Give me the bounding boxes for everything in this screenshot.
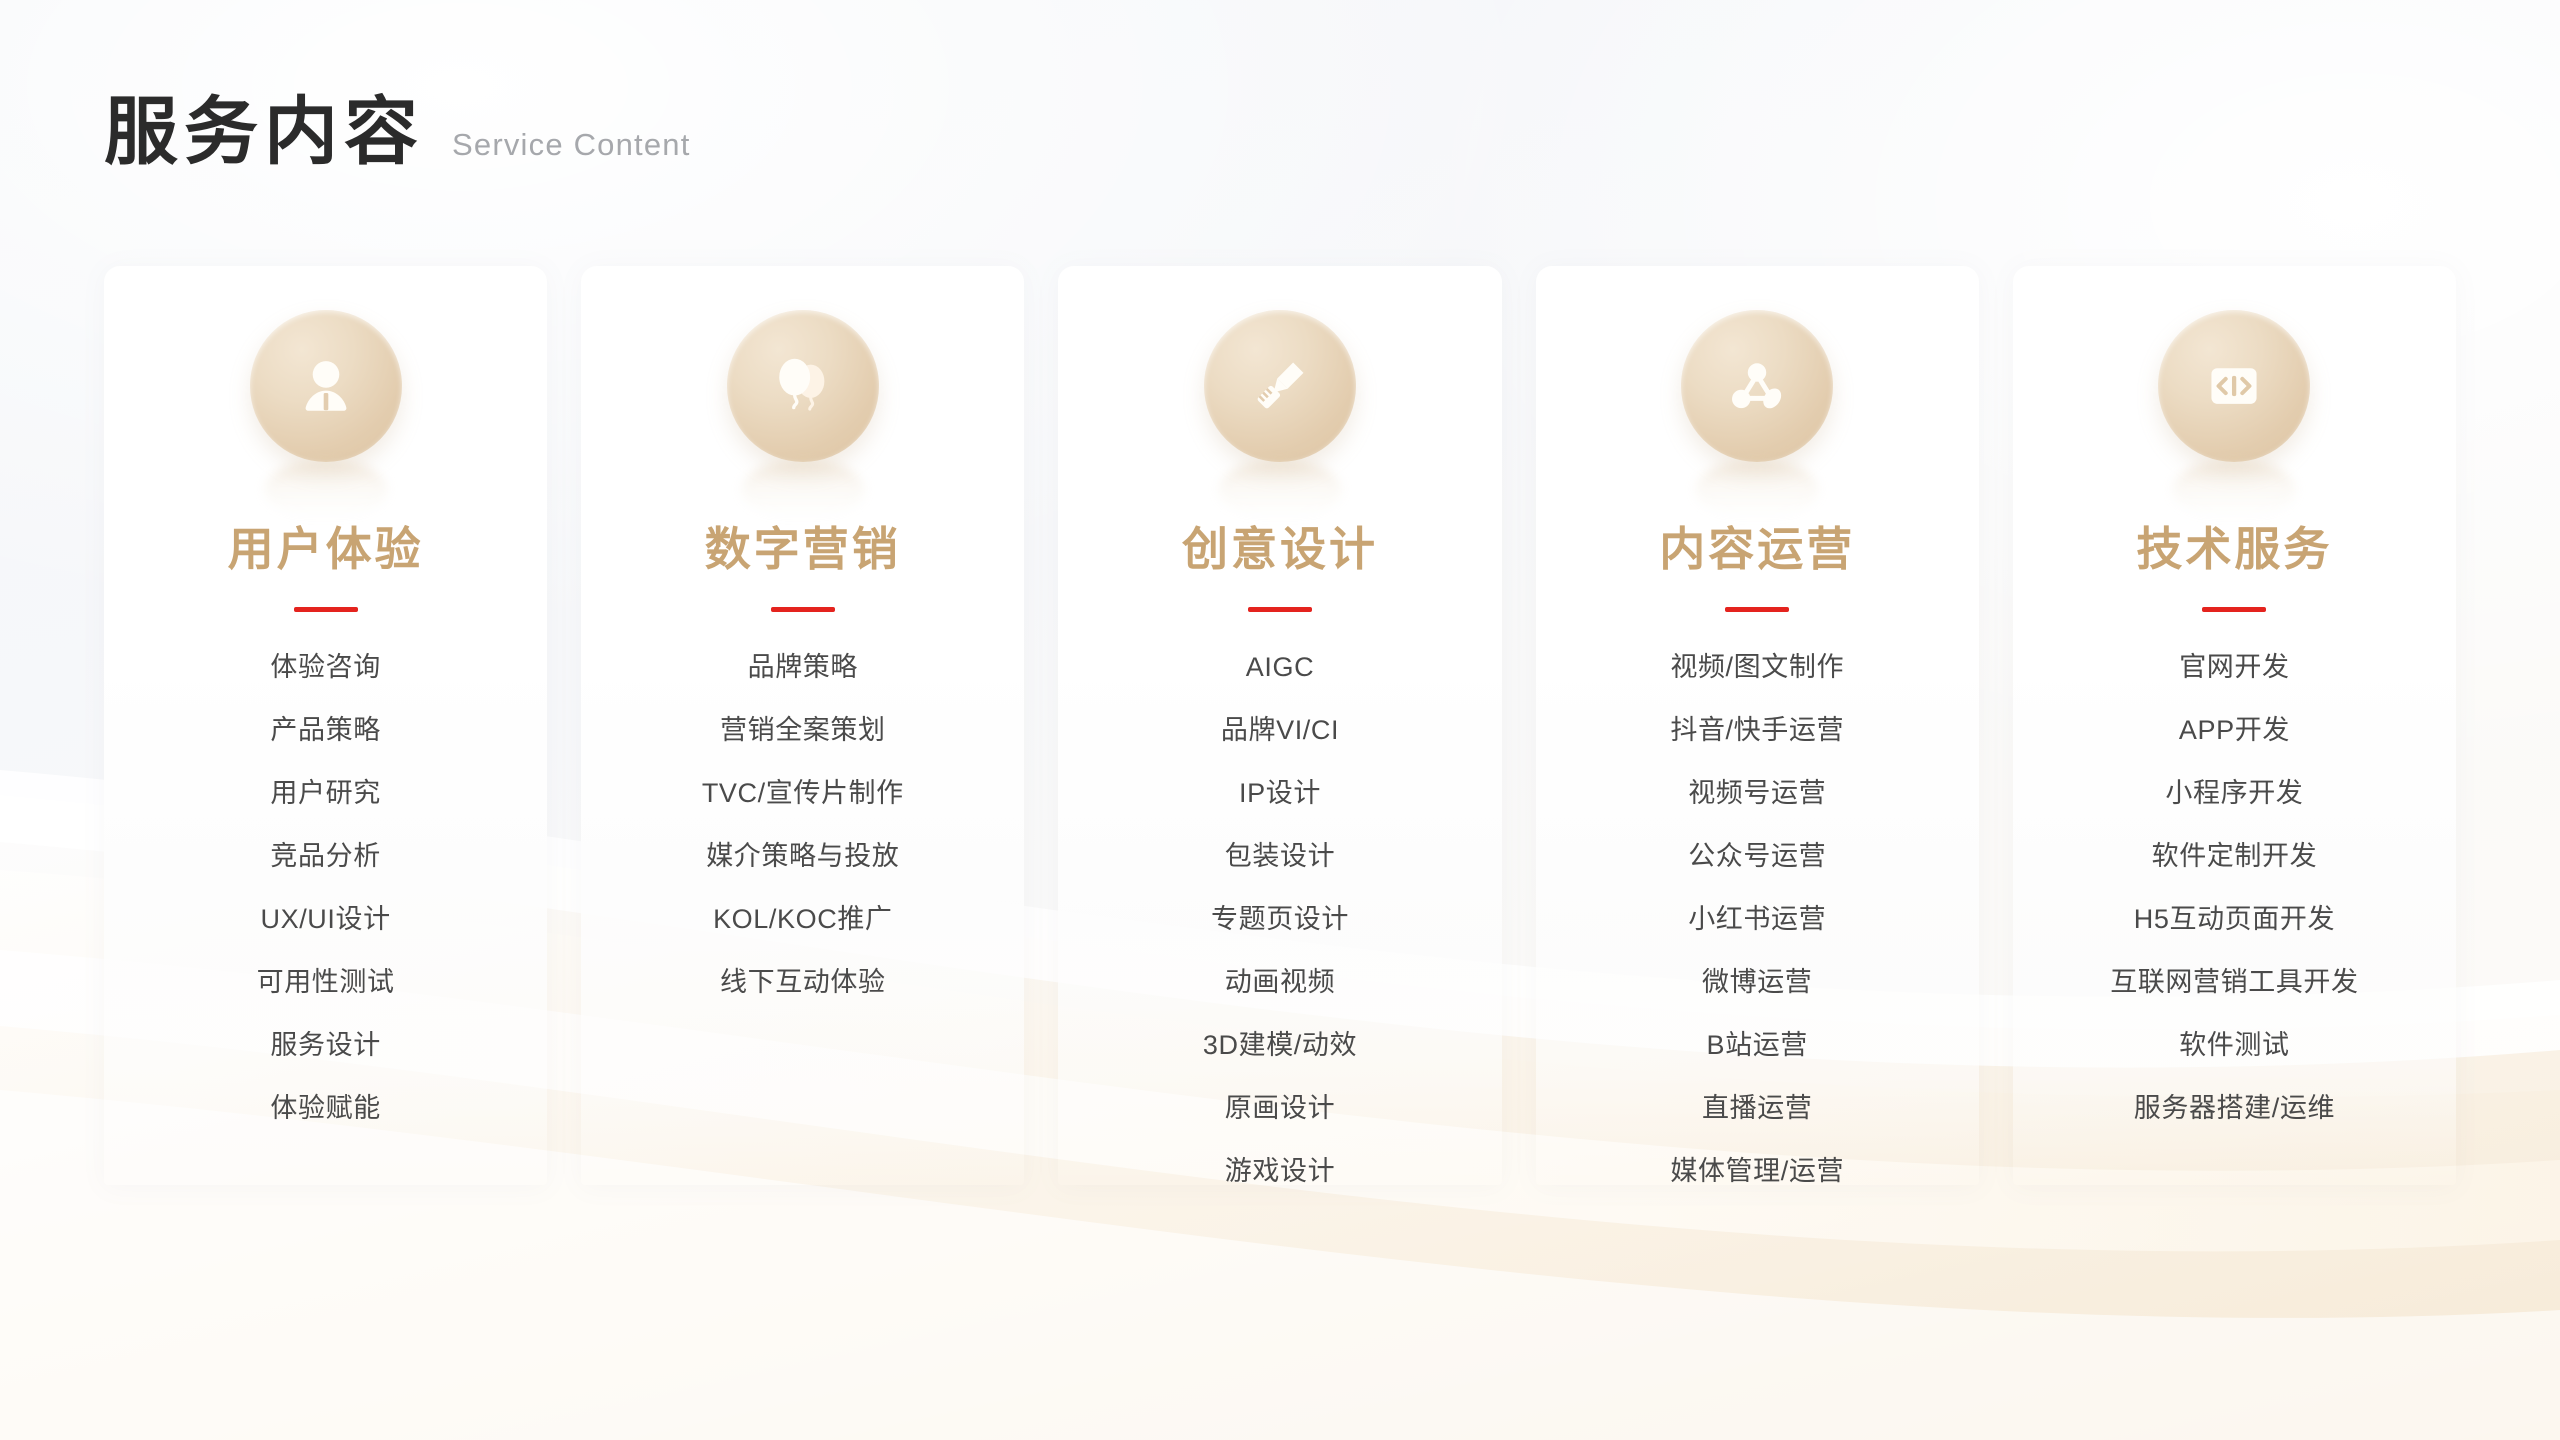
icon-reflection <box>2172 460 2296 520</box>
list-item[interactable]: 互联网营销工具开发 <box>2106 969 2362 996</box>
page-header: 服务内容 Service Content <box>104 95 691 169</box>
list-item[interactable]: 软件定制开发 <box>2148 843 2322 870</box>
list-item[interactable]: KOL/KOC推广 <box>709 906 896 933</box>
card-title: 技术服务 <box>2136 524 2332 575</box>
card-icon-wrapper <box>1204 310 1356 462</box>
card-title: 内容运营 <box>1659 524 1855 575</box>
list-item[interactable]: 媒体管理/运营 <box>1666 1158 1848 1185</box>
pencil-ruler-icon <box>1204 310 1356 462</box>
list-item[interactable]: 视频号运营 <box>1684 780 1830 807</box>
service-card-content-operations[interactable]: 内容运营 视频/图文制作 抖音/快手运营 视频号运营 公众号运营 小红书运营 微… <box>1536 266 1979 1185</box>
list-item[interactable]: AIGC <box>1242 654 1318 681</box>
list-item[interactable]: 3D建模/动效 <box>1199 1032 1361 1059</box>
list-item[interactable]: UX/UI设计 <box>256 906 394 933</box>
list-item[interactable]: TVC/宣传片制作 <box>698 780 908 807</box>
card-title: 数字营销 <box>705 524 901 575</box>
card-title: 创意设计 <box>1182 524 1378 575</box>
balloons-icon <box>727 310 879 462</box>
list-item[interactable]: 微博运营 <box>1698 969 1816 996</box>
list-item[interactable]: IP设计 <box>1235 780 1325 807</box>
share-network-icon <box>1681 310 1833 462</box>
list-item[interactable]: 品牌VI/CI <box>1217 717 1343 744</box>
list-item[interactable]: B站运营 <box>1703 1032 1812 1059</box>
title-underline <box>771 607 835 612</box>
list-item[interactable]: 品牌策略 <box>744 654 862 681</box>
list-item[interactable]: 线下互动体验 <box>716 969 890 996</box>
service-card-user-experience[interactable]: 用户体验 体验咨询 产品策略 用户研究 竞品分析 UX/UI设计 可用性测试 服… <box>104 266 547 1185</box>
list-item[interactable]: 公众号运营 <box>1684 843 1830 870</box>
list-item[interactable]: 竞品分析 <box>266 843 384 870</box>
service-card-digital-marketing[interactable]: 数字营销 品牌策略 营销全案策划 TVC/宣传片制作 媒介策略与投放 KOL/K… <box>581 266 1024 1185</box>
card-icon-wrapper <box>1681 310 1833 462</box>
title-underline <box>2202 607 2266 612</box>
page-title: 服务内容 <box>104 95 424 169</box>
card-icon-wrapper <box>250 310 402 462</box>
list-item[interactable]: 原画设计 <box>1221 1095 1339 1122</box>
service-list: 品牌策略 营销全案策划 TVC/宣传片制作 媒介策略与投放 KOL/KOC推广 … <box>597 654 1008 996</box>
code-brackets-icon <box>2158 310 2310 462</box>
list-item[interactable]: 抖音/快手运营 <box>1666 717 1848 744</box>
card-title: 用户体验 <box>228 524 424 575</box>
card-icon-wrapper <box>727 310 879 462</box>
list-item[interactable]: 直播运营 <box>1698 1095 1816 1122</box>
list-item[interactable]: APP开发 <box>2175 717 2294 744</box>
service-list: AIGC 品牌VI/CI IP设计 包装设计 专题页设计 动画视频 3D建模/动… <box>1074 654 1485 1185</box>
list-item[interactable]: 动画视频 <box>1221 969 1339 996</box>
list-item[interactable]: 营销全案策划 <box>716 717 890 744</box>
list-item[interactable]: 可用性测试 <box>253 969 399 996</box>
icon-reflection <box>1218 460 1342 520</box>
service-cards-row: 用户体验 体验咨询 产品策略 用户研究 竞品分析 UX/UI设计 可用性测试 服… <box>104 266 2456 1185</box>
card-icon-wrapper <box>2158 310 2310 462</box>
list-item[interactable]: 服务设计 <box>266 1032 384 1059</box>
list-item[interactable]: 小程序开发 <box>2161 780 2307 807</box>
list-item[interactable]: 体验咨询 <box>266 654 384 681</box>
page-subtitle: Service Content <box>452 129 691 169</box>
service-list: 视频/图文制作 抖音/快手运营 视频号运营 公众号运营 小红书运营 微博运营 B… <box>1552 654 1963 1185</box>
list-item[interactable]: 专题页设计 <box>1207 906 1353 933</box>
title-underline <box>1725 607 1789 612</box>
list-item[interactable]: 视频/图文制作 <box>1666 654 1848 681</box>
list-item[interactable]: 服务器搭建/运维 <box>2130 1095 2339 1122</box>
user-icon <box>250 310 402 462</box>
icon-reflection <box>1695 460 1819 520</box>
icon-reflection <box>264 460 388 520</box>
list-item[interactable]: 体验赋能 <box>266 1095 384 1122</box>
list-item[interactable]: 小红书运营 <box>1684 906 1830 933</box>
list-item[interactable]: 媒介策略与投放 <box>702 843 903 870</box>
list-item[interactable]: 官网开发 <box>2175 654 2293 681</box>
service-list: 官网开发 APP开发 小程序开发 软件定制开发 H5互动页面开发 互联网营销工具… <box>2029 654 2440 1122</box>
icon-reflection <box>741 460 865 520</box>
list-item[interactable]: 用户研究 <box>266 780 384 807</box>
list-item[interactable]: 产品策略 <box>266 717 384 744</box>
service-list: 体验咨询 产品策略 用户研究 竞品分析 UX/UI设计 可用性测试 服务设计 体… <box>120 654 531 1122</box>
list-item[interactable]: 软件测试 <box>2175 1032 2293 1059</box>
title-underline <box>1248 607 1312 612</box>
service-card-creative-design[interactable]: 创意设计 AIGC 品牌VI/CI IP设计 包装设计 专题页设计 动画视频 3… <box>1058 266 1501 1185</box>
list-item[interactable]: H5互动页面开发 <box>2130 906 2339 933</box>
title-underline <box>294 607 358 612</box>
service-card-technical-services[interactable]: 技术服务 官网开发 APP开发 小程序开发 软件定制开发 H5互动页面开发 互联… <box>2013 266 2456 1185</box>
list-item[interactable]: 游戏设计 <box>1221 1158 1339 1185</box>
list-item[interactable]: 包装设计 <box>1221 843 1339 870</box>
